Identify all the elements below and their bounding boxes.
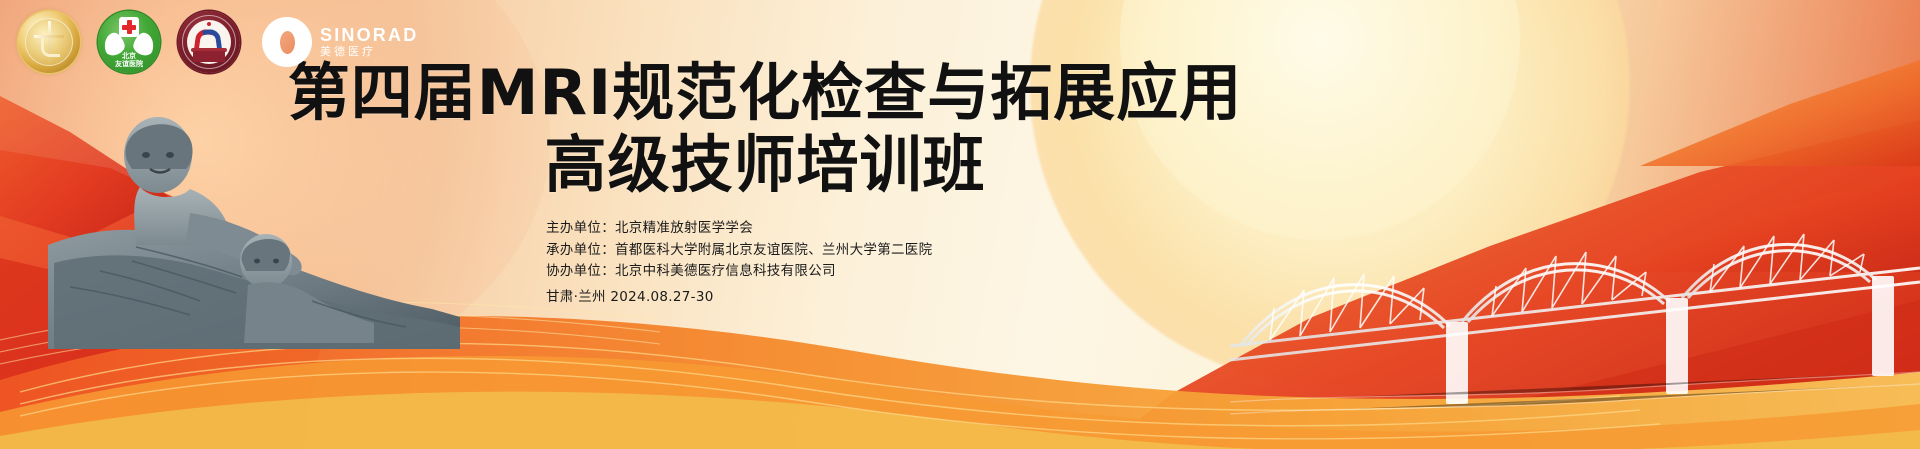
banner-title-line2: 高级技师培训班 bbox=[0, 132, 1530, 198]
organizer-line: 主办单位：北京精准放射医学学会 bbox=[546, 218, 932, 240]
co-organizer-line: 协办单位：北京中科美德医疗信息科技有限公司 bbox=[546, 261, 932, 283]
logo-row: 北京 友谊医院 SINORAD 美德医疗 bbox=[18, 6, 418, 78]
sinorad-cn-label: 美德医疗 bbox=[320, 45, 418, 59]
banner-title-block: 第四届MRI规范化检查与拓展应用 高级技师培训班 bbox=[0, 60, 1530, 198]
hospital-logo-text-line2: 友谊医院 bbox=[98, 61, 160, 69]
lanzhou-university-second-hospital-logo-icon bbox=[178, 11, 240, 73]
hospital-logo-text-line1: 北京 bbox=[98, 53, 160, 61]
sinorad-mark-icon bbox=[262, 17, 312, 67]
sinorad-en-label: SINORAD bbox=[320, 26, 418, 45]
banner-credits: 主办单位：北京精准放射医学学会 承办单位：首都医科大学附属北京友谊医院、兰州大学… bbox=[546, 218, 932, 308]
location-date-line: 甘肃·兰州 2024.08.27-30 bbox=[546, 287, 932, 309]
conference-banner: 北京 友谊医院 SINORAD 美德医疗 第四届MRI规范化检查与拓展应用 bbox=[0, 0, 1920, 449]
host-line: 承办单位：首都医科大学附属北京友谊医院、兰州大学第二医院 bbox=[546, 240, 932, 262]
sinorad-logo: SINORAD 美德医疗 bbox=[262, 17, 418, 67]
gold-medal-emblem-icon bbox=[18, 11, 80, 73]
beijing-friendship-hospital-logo-icon: 北京 友谊医院 bbox=[98, 11, 160, 73]
